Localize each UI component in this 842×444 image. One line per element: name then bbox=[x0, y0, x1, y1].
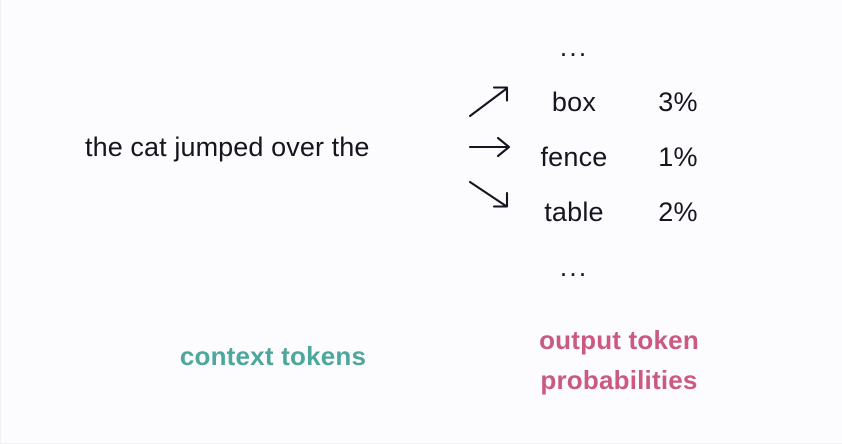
probability-fence: 1% bbox=[618, 130, 738, 185]
caption-output-line-2: probabilities bbox=[499, 360, 739, 400]
probability-ellipsis-top bbox=[618, 20, 738, 75]
caption-output-token-probabilities: output token probabilities bbox=[499, 320, 739, 400]
caption-output-line-1: output token bbox=[499, 320, 739, 360]
context-phrase-text: the cat jumped over the bbox=[85, 130, 369, 164]
probability-column: 3% 1% 2% bbox=[618, 20, 738, 295]
probability-box: 3% bbox=[618, 75, 738, 130]
diagram-canvas: the cat jumped over the ... box fence ta bbox=[0, 0, 842, 444]
probability-ellipsis-bottom bbox=[618, 240, 738, 295]
probability-table: 2% bbox=[618, 185, 738, 240]
caption-context-tokens: context tokens bbox=[123, 338, 423, 374]
